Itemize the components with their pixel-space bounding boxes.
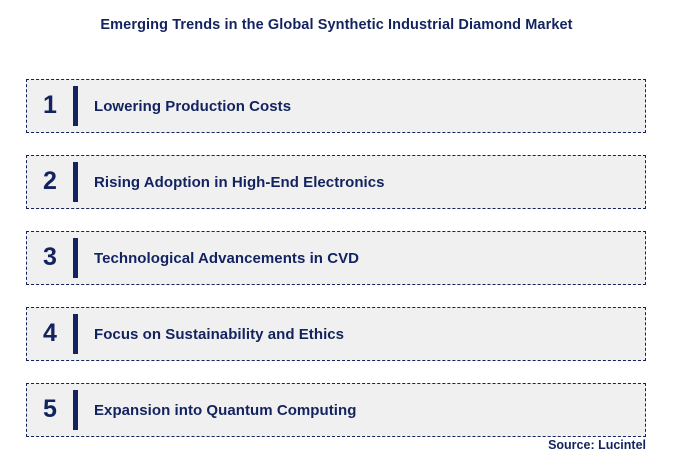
trend-rank-number: 4 xyxy=(27,321,73,347)
trend-rank-number: 2 xyxy=(27,169,73,195)
rank-divider-bar xyxy=(73,86,78,126)
trend-list: 1 Lowering Production Costs 2 Rising Ado… xyxy=(26,79,646,437)
trend-rank-number: 5 xyxy=(27,397,73,423)
infographic-page: Emerging Trends in the Global Synthetic … xyxy=(0,0,673,471)
trend-row-4: 4 Focus on Sustainability and Ethics xyxy=(26,307,646,361)
trend-row-3: 3 Technological Advancements in CVD xyxy=(26,231,646,285)
source-attribution: Source: Lucintel xyxy=(548,438,646,452)
rank-divider-bar xyxy=(73,162,78,202)
trend-row-5: 5 Expansion into Quantum Computing xyxy=(26,383,646,437)
trend-label: Expansion into Quantum Computing xyxy=(94,402,645,419)
rank-divider-bar xyxy=(73,238,78,278)
trend-label: Lowering Production Costs xyxy=(94,98,645,115)
trend-label: Rising Adoption in High-End Electronics xyxy=(94,174,645,191)
trend-label: Technological Advancements in CVD xyxy=(94,250,645,267)
trend-row-1: 1 Lowering Production Costs xyxy=(26,79,646,133)
trend-label: Focus on Sustainability and Ethics xyxy=(94,326,645,343)
page-title: Emerging Trends in the Global Synthetic … xyxy=(0,17,673,33)
rank-divider-bar xyxy=(73,390,78,430)
rank-divider-bar xyxy=(73,314,78,354)
trend-rank-number: 3 xyxy=(27,245,73,271)
trend-row-2: 2 Rising Adoption in High-End Electronic… xyxy=(26,155,646,209)
trend-rank-number: 1 xyxy=(27,93,73,119)
